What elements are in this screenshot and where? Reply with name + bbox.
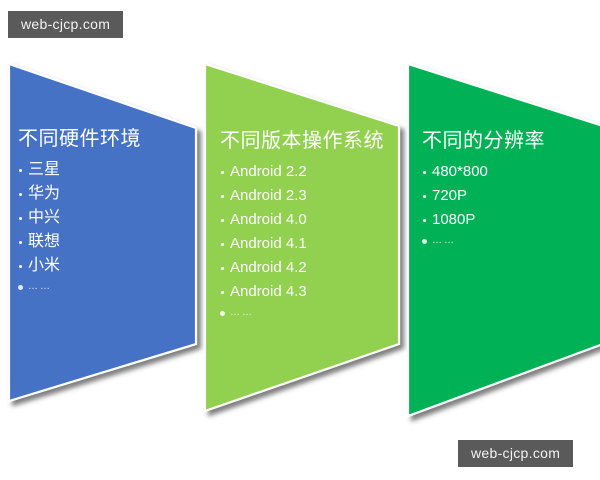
list-item: Android 2.2 bbox=[220, 164, 384, 179]
list-item: Android 2.3 bbox=[220, 188, 384, 203]
list-item-ellipsis: …… bbox=[18, 282, 141, 292]
list-item: 中兴 bbox=[18, 210, 141, 226]
watermark-bottom-right: web-cjcp.com bbox=[458, 440, 573, 467]
watermark-top-left: web-cjcp.com bbox=[8, 11, 123, 38]
panel-os-content: 不同版本操作系统 Android 2.2 Android 2.3 Android… bbox=[220, 130, 384, 327]
list-item: Android 4.2 bbox=[220, 260, 384, 275]
panel-hardware-content: 不同硬件环境 三星 华为 中兴 联想 小米 …… bbox=[18, 128, 141, 300]
list-item: 480*800 bbox=[422, 164, 545, 179]
panel-resolution-content: 不同的分辨率 480*800 720P 1080P …… bbox=[422, 130, 545, 255]
list-item-ellipsis: …… bbox=[422, 236, 545, 246]
list-item: 720P bbox=[422, 188, 545, 203]
panel-resolution[interactable]: 不同的分辨率 480*800 720P 1080P …… bbox=[398, 56, 600, 428]
panel-os-list: Android 2.2 Android 2.3 Android 4.0 Andr… bbox=[220, 164, 384, 318]
list-item: 三星 bbox=[18, 162, 141, 178]
panel-os[interactable]: 不同版本操作系统 Android 2.2 Android 2.3 Android… bbox=[196, 56, 411, 424]
list-item: 1080P bbox=[422, 212, 545, 227]
list-item-ellipsis: …… bbox=[220, 308, 384, 318]
list-item: 联想 bbox=[18, 234, 141, 250]
panel-hardware[interactable]: 不同硬件环境 三星 华为 中兴 联想 小米 …… bbox=[0, 56, 210, 416]
list-item: Android 4.3 bbox=[220, 284, 384, 299]
panel-hardware-title: 不同硬件环境 bbox=[18, 128, 141, 150]
list-item: 小米 bbox=[18, 258, 141, 274]
panel-hardware-list: 三星 华为 中兴 联想 小米 …… bbox=[18, 162, 141, 292]
slide-canvas: 不同硬件环境 三星 华为 中兴 联想 小米 …… 不同版本操作系统 And bbox=[0, 0, 600, 480]
panel-resolution-title: 不同的分辨率 bbox=[422, 130, 545, 152]
panel-os-title: 不同版本操作系统 bbox=[220, 130, 384, 152]
list-item: 华为 bbox=[18, 186, 141, 202]
list-item: Android 4.0 bbox=[220, 212, 384, 227]
list-item: Android 4.1 bbox=[220, 236, 384, 251]
panel-resolution-list: 480*800 720P 1080P …… bbox=[422, 164, 545, 246]
